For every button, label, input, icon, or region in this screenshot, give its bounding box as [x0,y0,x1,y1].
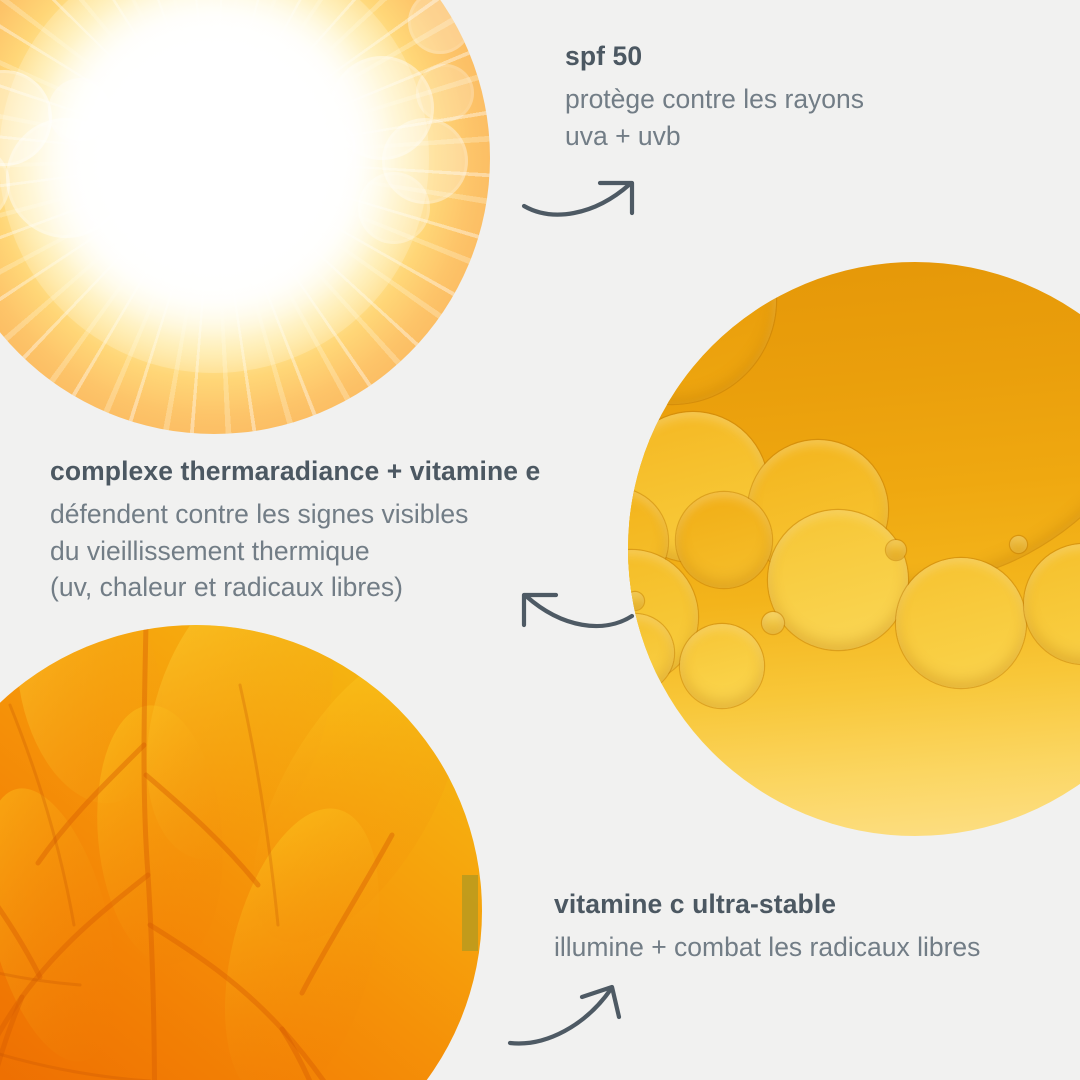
bokeh-circle [416,64,474,122]
callout-complex-body: défendent contre les signes visibles du … [50,496,540,606]
callout-complex: complexe thermaradiance + vitamine e déf… [50,455,540,606]
curved-arrow-up-left-icon [500,572,650,648]
curved-arrow-up-right-icon [498,975,658,1061]
oil-droplet [886,540,906,560]
callout-vitamin-c-heading: vitamine c ultra-stable [554,888,980,920]
callout-complex-heading: complexe thermaradiance + vitamine e [50,455,540,487]
oil-bubble [896,558,1026,688]
oil-droplet [762,612,784,634]
callout-vitamin-c: vitamine c ultra-stable illumine + comba… [554,888,980,966]
backlit-citrus-image [0,625,482,1080]
infographic-canvas: spf 50 protège contre les rayons uva + u… [0,0,1080,1080]
oil-bubble [768,510,908,650]
bokeh-circle [48,78,114,144]
bokeh-circle [302,120,356,174]
bokeh-circle [358,172,430,244]
callout-spf: spf 50 protège contre les rayons uva + u… [565,40,864,154]
oil-droplet [1010,536,1027,553]
curved-arrow-up-right-icon [508,160,668,240]
oil-bubble [680,624,764,708]
sunburst-image [0,0,490,434]
oil-bubble [676,492,772,588]
citrus-vein-pattern [0,625,482,1080]
callout-spf-body: protège contre les rayons uva + uvb [565,81,864,154]
oil-bubble [1024,544,1080,664]
oil-bubbles-image [628,262,1080,836]
callout-vitamin-c-body: illumine + combat les radicaux libres [554,929,980,966]
callout-spf-heading: spf 50 [565,40,864,72]
